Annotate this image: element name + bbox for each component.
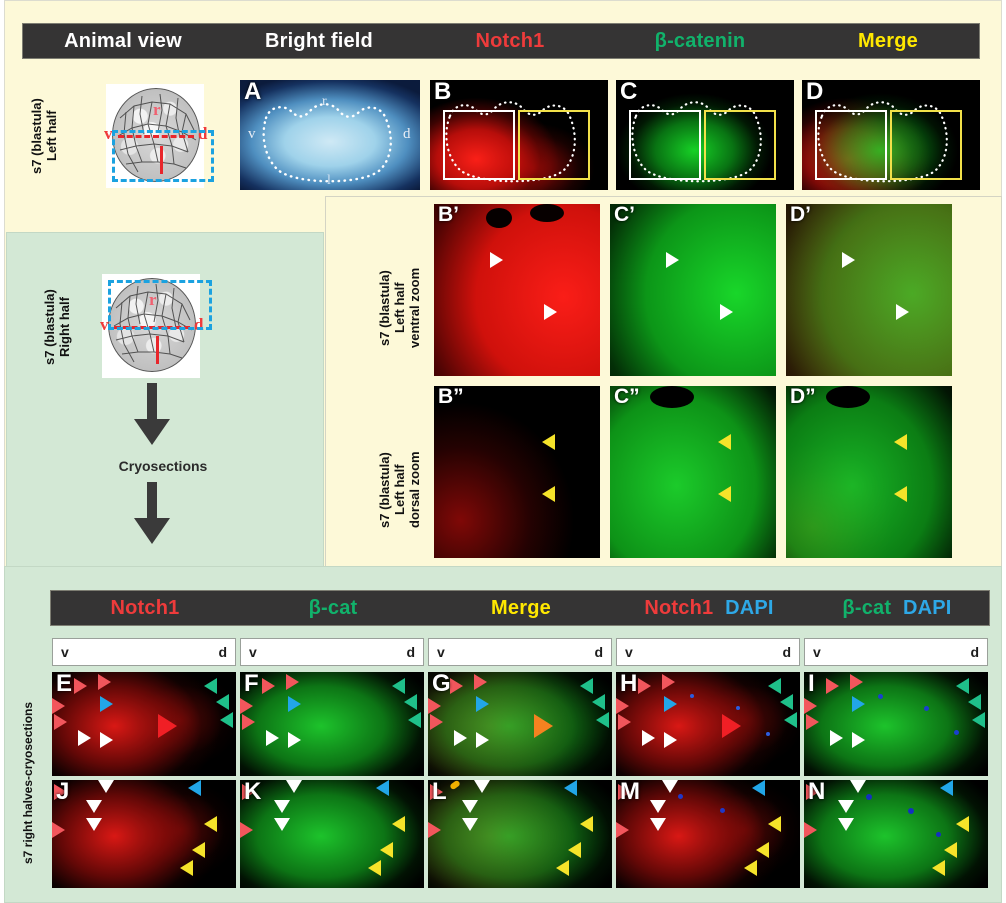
row-label-cryosections: s7 right halves-cryosections [22,678,40,888]
arrowhead-white-Bprime-1 [490,252,503,268]
header-sec-merge: Merge [427,597,615,620]
panelA-label-r: r [322,94,327,110]
panel-C-beta-catenin: C [616,80,794,190]
roi-ventral-C [629,110,701,180]
top-header-bar: Animal view Bright field Notch1 β-cateni… [22,23,980,59]
axis-strip-G-d: d [594,644,603,660]
schematic-right-crop-box [108,280,212,330]
panel-C-prime-bcat-ventral: C’ [610,204,776,376]
header-sec-bcat-dapi-dapi: DAPI [903,597,952,619]
header-merge: Merge [795,30,981,53]
panel-B-prime-notch1-ventral: B’ [434,204,600,376]
axis-strip-E-d: d [218,644,227,660]
panel-letter-J: J [56,780,69,804]
panel-letter-N: N [808,780,825,804]
panel-letter-B-dprime: B” [438,386,464,407]
arrowhead-yellow-Ddprime-1 [894,434,907,450]
panel-letter-E: E [56,672,72,696]
panel-A-bright-field: A v d r l [240,80,420,190]
header-sec-notch1-dapi: Notch1 DAPI [615,597,803,620]
flow-arrow-2 [132,482,172,544]
axis-strip-I-v: v [813,644,821,660]
row-label-dorsal-zoom: s7 (blastula) Left half dorsal zoom [378,430,424,550]
flow-arrow-1 [132,383,172,445]
panel-letter-F: F [244,672,259,696]
arrowhead-white-Dprime-2 [896,304,909,320]
schematic-crop-box [112,130,214,182]
row-label-ventral-zoom: s7 (blastula) Left half ventral zoom [378,248,424,368]
header-sec-notch1: Notch1 [51,597,239,620]
roi-ventral-B [443,110,515,180]
axis-strip-I-d: d [970,644,979,660]
schematic-left-half: r v d [92,82,220,190]
panel-letter-B: B [434,80,451,104]
arrowhead-yellow-Ddprime-2 [894,486,907,502]
axis-strip-H-v: v [625,644,633,660]
header-notch1: Notch1 [415,30,605,53]
flow-step-label: Cryosections [8,458,318,474]
arrowhead-yellow-Cdprime-2 [718,486,731,502]
arrowhead-white-Dprime-1 [842,252,855,268]
panel-D-merge: D [802,80,980,190]
bottom-header-bar: Notch1 β-cat Merge Notch1 DAPI β-cat DAP… [50,590,990,626]
header-bright-field: Bright field [223,30,415,53]
arrowhead-yellow-Cdprime-1 [718,434,731,450]
axis-strip-I: v d [804,638,988,666]
panelA-label-d: d [403,126,411,143]
roi-ventral-D [815,110,887,180]
row-label-whole-mount: s7 (blastula) Left half [30,82,48,190]
panel-letter-M: M [620,780,640,804]
panel-L-merge-section: L [428,780,612,888]
axis-strip-H: v d [616,638,800,666]
panel-letter-G: G [432,672,451,696]
axis-strip-F-d: d [406,644,415,660]
panel-letter-K: K [244,780,261,804]
panel-B-dprime-notch1-dorsal: B” [434,386,600,558]
panel-D-prime-merge-ventral: D’ [786,204,952,376]
arrowhead-white-Cprime-1 [666,252,679,268]
roi-dorsal-C [704,110,776,180]
panel-I-bcat-dapi-section: I [804,672,988,776]
axis-strip-H-d: d [782,644,791,660]
panel-letter-L: L [432,780,447,804]
panel-letter-H: H [620,672,637,696]
arrowhead-white-Cprime-2 [720,304,733,320]
panelA-label-v: v [248,126,256,143]
roi-dorsal-B [518,110,590,180]
panel-K-bcat-section: K [240,780,424,888]
axis-strip-G: v d [428,638,612,666]
panel-D-dprime-merge-dorsal: D” [786,386,952,558]
panel-letter-D-prime: D’ [790,204,811,225]
panel-B-notch1: B [430,80,608,190]
panel-letter-C: C [620,80,637,104]
panel-M-notch1-dapi-section: M [616,780,800,888]
panel-letter-A: A [244,80,261,104]
header-animal-view: Animal view [23,30,223,53]
row-label-right-half: s7 (blastula) Right half [43,275,61,379]
panel-J-notch1-section: J [52,780,236,888]
axis-strip-F: v d [240,638,424,666]
panel-N-bcat-dapi-section: N [804,780,988,888]
axis-strip-F-v: v [249,644,257,660]
panel-letter-D: D [806,80,823,104]
panel-letter-D-dprime: D” [790,386,816,407]
panel-F-bcat-section: F [240,672,424,776]
header-sec-notch1-dapi-dapi: DAPI [725,597,774,619]
panel-letter-I: I [808,672,815,696]
panelA-label-l: l [327,173,331,189]
panel-H-notch1-dapi-section: H [616,672,800,776]
arrowhead-yellow-Bdprime-2 [542,486,555,502]
panel-letter-B-prime: B’ [438,204,459,225]
panel-letter-C-prime: C’ [614,204,635,225]
schematic-right-half: r v d [88,270,216,382]
panel-E-notch1-section: E [52,672,236,776]
panel-G-merge-section: G [428,672,612,776]
header-sec-bcat: β-cat [239,597,427,620]
axis-strip-E-v: v [61,644,69,660]
axis-strip-G-v: v [437,644,445,660]
header-sec-bcat-dapi: β-cat DAPI [803,597,991,620]
header-sec-notch1-dapi-notch: Notch1 [644,597,713,619]
header-sec-bcat-dapi-bcat: β-cat [842,597,891,619]
figure-root: Animal view Bright field Notch1 β-cateni… [0,0,1006,903]
header-beta-catenin: β-catenin [605,30,795,53]
arrowhead-white-Bprime-2 [544,304,557,320]
roi-dorsal-D [890,110,962,180]
panel-letter-C-dprime: C” [614,386,640,407]
panel-C-dprime-bcat-dorsal: C” [610,386,776,558]
axis-strip-E: v d [52,638,236,666]
arrowhead-yellow-Bdprime-1 [542,434,555,450]
